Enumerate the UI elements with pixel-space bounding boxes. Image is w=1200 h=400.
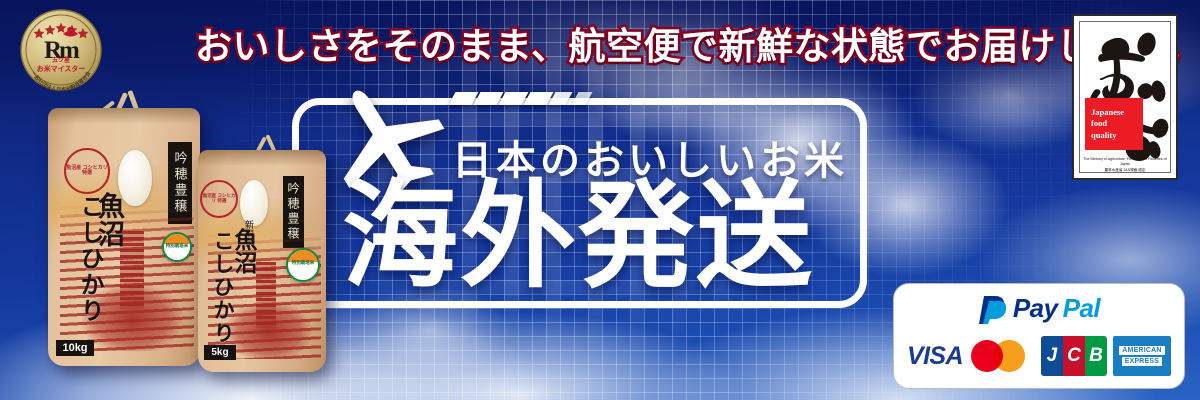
paypal-word-pal: Pal <box>1063 293 1101 324</box>
amex-line2: EXPRESS <box>1122 357 1162 366</box>
bag-round-sticker-small: 特別栽培米 <box>286 248 320 282</box>
jas-oishii-mark: Japanese food quality The Ministry of Ag… <box>1072 14 1178 180</box>
jas-red-line3: quality <box>1091 130 1117 140</box>
bag-red-stamp-small: 魚沼産 コシヒカリ 特選 <box>200 180 238 218</box>
jcb-letter-b: B <box>1085 336 1107 376</box>
jcb-letter-j: J <box>1041 336 1063 376</box>
mastercard-logo <box>969 336 1035 376</box>
jas-caption-jp: 農林水産省 JAS規格 認定 <box>1080 168 1170 173</box>
jas-red-line2: food <box>1091 118 1107 128</box>
bag-round-sticker: 特別栽培米 <box>162 232 192 262</box>
rice-bag-10kg: 魚沼産 コシヒカリ 特選 吟穂豊穣 魚沼 こしひかり 特別栽培米 10kg <box>48 108 200 366</box>
amex-line1: AMERICAN <box>1119 346 1164 355</box>
paypal-logo: Pay Pal <box>894 292 1184 324</box>
rice-bag-5kg: 魚沼産 コシヒカリ 特選 吟穂豊穣 新潟県 魚沼 こしひかり 特別栽培米 5kg <box>198 150 326 372</box>
seal-line1: 五ツ星 <box>14 58 108 64</box>
paypal-icon <box>978 292 1008 324</box>
bag-fold-top-small <box>198 150 326 166</box>
banner-headline: おいしさをそのまま、航空便で新鮮な状態でお届けします。 <box>195 28 1005 65</box>
rice-meister-seal: R m 一般社団法人日本米穀商連合会 五ツ星 お米マイスター <box>14 8 108 92</box>
jas-red-line1: Japanese <box>1091 107 1124 117</box>
payment-methods-panel: Pay Pal VISA J C B AMERICAN EXPRESS <box>893 283 1185 389</box>
paypal-word-pay: Pay <box>1013 293 1058 324</box>
plane-contrail <box>452 90 602 112</box>
overseas-shipping-banner: R m 一般社団法人日本米穀商連合会 五ツ星 お米マイスター おいしさをそのまま… <box>0 0 1200 400</box>
bag-fold-top <box>48 108 200 124</box>
bag-brand-line2-small: こしひかり <box>208 230 238 345</box>
jcb-letter-c: C <box>1063 336 1085 376</box>
jas-caption-en: The Ministry of Agriculture, Forestry an… <box>1080 157 1170 168</box>
card-logo-row: VISA J C B AMERICAN EXPRESS <box>894 334 1184 378</box>
banner-title: 海外発送 <box>342 178 814 294</box>
jcb-logo: J C B <box>1041 336 1107 376</box>
sticker-line1: 特別栽培米 <box>164 243 190 249</box>
bag-weight-10kg: 10kg <box>56 340 94 356</box>
american-express-logo: AMERICAN EXPRESS <box>1113 336 1171 376</box>
bag-red-stamp: 魚沼産 コシヒカリ 特選 <box>64 148 110 194</box>
bag-brand-line2: こしひかり <box>72 194 107 324</box>
japanese-food-quality-box: Japanese food quality <box>1085 98 1143 150</box>
bag-weight-5kg: 5kg <box>204 345 236 360</box>
seal-line2: お米マイスター <box>14 66 108 73</box>
visa-logo: VISA <box>907 342 963 371</box>
sticker-line1-small: 特別栽培米 <box>288 260 318 266</box>
